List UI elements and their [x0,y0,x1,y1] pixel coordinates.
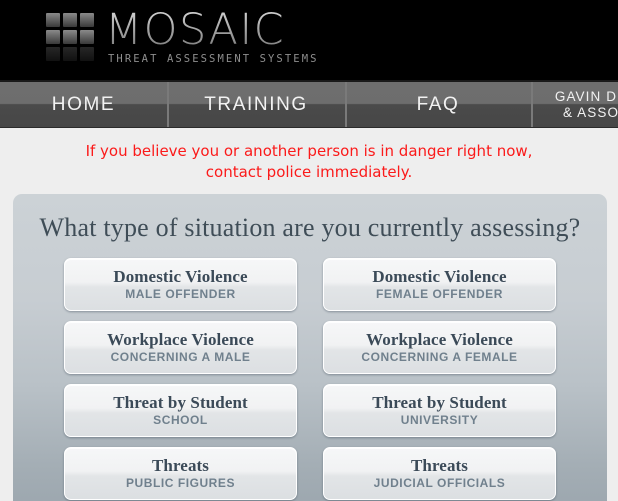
situation-options-grid: Domestic Violence MALE OFFENDER Domestic… [13,258,607,500]
mosaic-logo[interactable]: MOSAIC THREAT ASSESSMENT SYSTEMS [46,8,319,65]
option-title: Domestic Violence [113,267,247,286]
emergency-alert: If you believe you or another person is … [0,129,618,183]
option-subtitle: JUDICIAL OFFICIALS [374,476,506,491]
option-domestic-violence-male-offender[interactable]: Domestic Violence MALE OFFENDER [64,258,297,311]
option-threat-by-student-school[interactable]: Threat by Student SCHOOL [64,384,297,437]
option-subtitle: MALE OFFENDER [125,287,235,302]
logo-tagline: THREAT ASSESSMENT SYSTEMS [105,53,319,65]
option-title: Threat by Student [372,393,507,412]
option-threat-by-student-university[interactable]: Threat by Student UNIVERSITY [323,384,556,437]
option-subtitle: UNIVERSITY [401,413,479,428]
option-subtitle: FEMALE OFFENDER [376,287,503,302]
grid-squares-icon [46,13,94,63]
main-navigation: HOME TRAINING FAQ GAVIN DE& ASSO [0,80,618,128]
option-subtitle: CONCERNING A FEMALE [361,350,517,365]
option-threats-public-figures[interactable]: Threats PUBLIC FIGURES [64,447,297,500]
option-title: Threats [411,456,468,475]
alert-line-2: contact police immediately. [0,162,618,183]
nav-item-gavin-de-becker-associates[interactable]: GAVIN DE& ASSO [531,82,618,127]
option-title: Workplace Violence [107,330,254,349]
logo-wordmark: MOSAIC [105,8,319,52]
option-workplace-violence-concerning-a-male[interactable]: Workplace Violence CONCERNING A MALE [64,321,297,374]
nav-item-training[interactable]: TRAINING [167,82,345,127]
option-threats-judicial-officials[interactable]: Threats JUDICIAL OFFICIALS [323,447,556,500]
option-title: Threats [152,456,209,475]
option-subtitle: PUBLIC FIGURES [126,476,235,491]
option-title: Workplace Violence [366,330,513,349]
option-subtitle: SCHOOL [153,413,208,428]
alert-line-1: If you believe you or another person is … [0,141,618,162]
page-root: MOSAIC THREAT ASSESSMENT SYSTEMS HOME TR… [0,0,618,501]
situation-selector-panel: What type of situation are you currently… [13,194,607,501]
option-title: Threat by Student [113,393,248,412]
nav-item-home[interactable]: HOME [0,82,167,127]
nav-item-faq[interactable]: FAQ [345,82,531,127]
option-domestic-violence-female-offender[interactable]: Domestic Violence FEMALE OFFENDER [323,258,556,311]
page-title: What type of situation are you currently… [13,194,607,243]
option-title: Domestic Violence [372,267,506,286]
option-workplace-violence-concerning-a-female[interactable]: Workplace Violence CONCERNING A FEMALE [323,321,556,374]
site-header: MOSAIC THREAT ASSESSMENT SYSTEMS [0,0,618,80]
option-subtitle: CONCERNING A MALE [111,350,251,365]
